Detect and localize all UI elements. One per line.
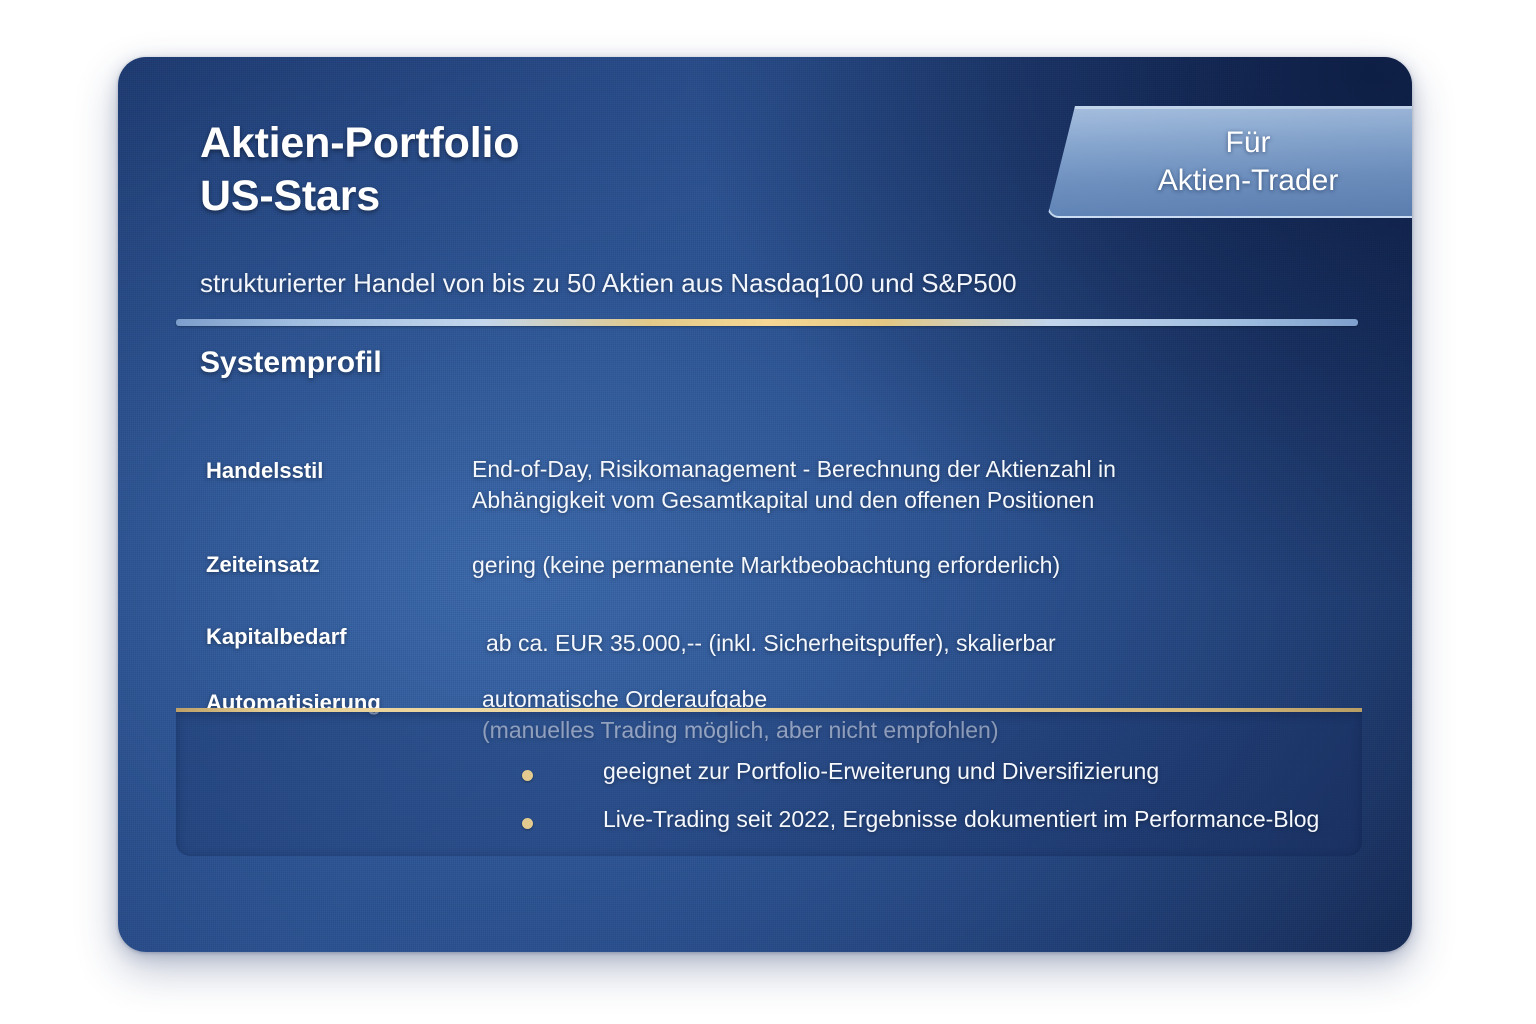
profile-value: End-of-Day, Risikomanagement - Berechnun… (472, 454, 1332, 516)
profile-label: Zeiteinsatz (206, 551, 320, 579)
profile-label: Kapitalbedarf (206, 623, 347, 651)
profile-value: gering (keine permanente Marktbeobachtun… (472, 550, 1352, 581)
target-audience-badge: Für Aktien-Trader (1047, 106, 1412, 218)
profile-label: Handelsstil (206, 457, 323, 485)
list-item: Live-Trading seit 2022, Ergebnisse dokum… (176, 803, 1362, 845)
bullet-dot-icon (522, 770, 533, 781)
profile-value: ab ca. EUR 35.000,-- (inkl. Sicherheitsp… (486, 628, 1366, 659)
panel-gold-border (176, 708, 1362, 712)
highlights-panel: geeignet zur Portfolio-Erweiterung und D… (176, 708, 1362, 856)
list-item: geeignet zur Portfolio-Erweiterung und D… (176, 755, 1362, 797)
list-item-label: Live-Trading seit 2022, Ergebnisse dokum… (603, 803, 1319, 836)
divider-gold-gradient (176, 319, 1358, 326)
list-item-label: geeignet zur Portfolio-Erweiterung und D… (603, 755, 1159, 788)
card-subtitle: strukturierter Handel von bis zu 50 Akti… (200, 267, 1320, 299)
bullet-dot-icon (522, 818, 533, 829)
presentation-card: Aktien-Portfolio US-Stars Für Aktien-Tra… (118, 57, 1412, 952)
card-content: Aktien-Portfolio US-Stars Für Aktien-Tra… (118, 57, 1412, 952)
slide-canvas: Aktien-Portfolio US-Stars Für Aktien-Tra… (0, 0, 1536, 1024)
section-heading-systemprofil: Systemprofil (200, 344, 382, 382)
card-title: Aktien-Portfolio US-Stars (200, 117, 960, 223)
